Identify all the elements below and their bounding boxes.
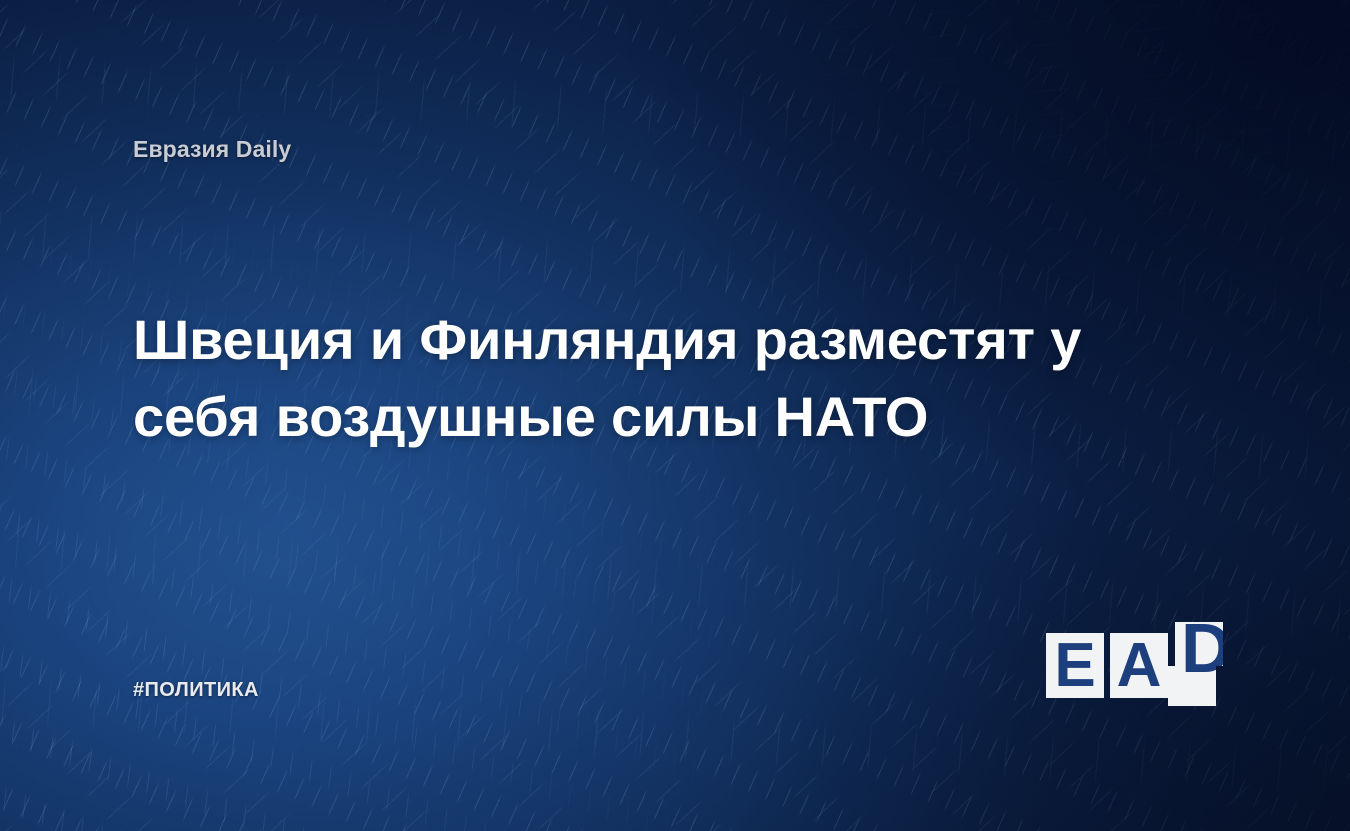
logo-letter-e: E [1054,635,1095,697]
brand-name: Евразия Daily [133,136,291,163]
ead-logo: E A D D [1046,620,1226,708]
logo-tile-a: A [1110,633,1168,698]
logo-tile-d-bottom-half: D [1168,666,1216,706]
news-card: Евразия Daily Швеция и Финляндия размест… [0,0,1350,831]
logo-tile-d-top-half: D [1175,622,1223,666]
category-hashtag: #ПОЛИТИКА [133,679,259,702]
logo-letter-d-upper: D [1181,622,1223,666]
logo-letter-d-lower: D [1181,666,1216,683]
headline-title: Швеция и Финляндия разместят у себя возд… [133,301,1208,455]
logo-tile-e: E [1046,633,1104,698]
logo-letter-a: A [1117,635,1162,697]
card-content: Евразия Daily Швеция и Финляндия размест… [0,0,1350,831]
